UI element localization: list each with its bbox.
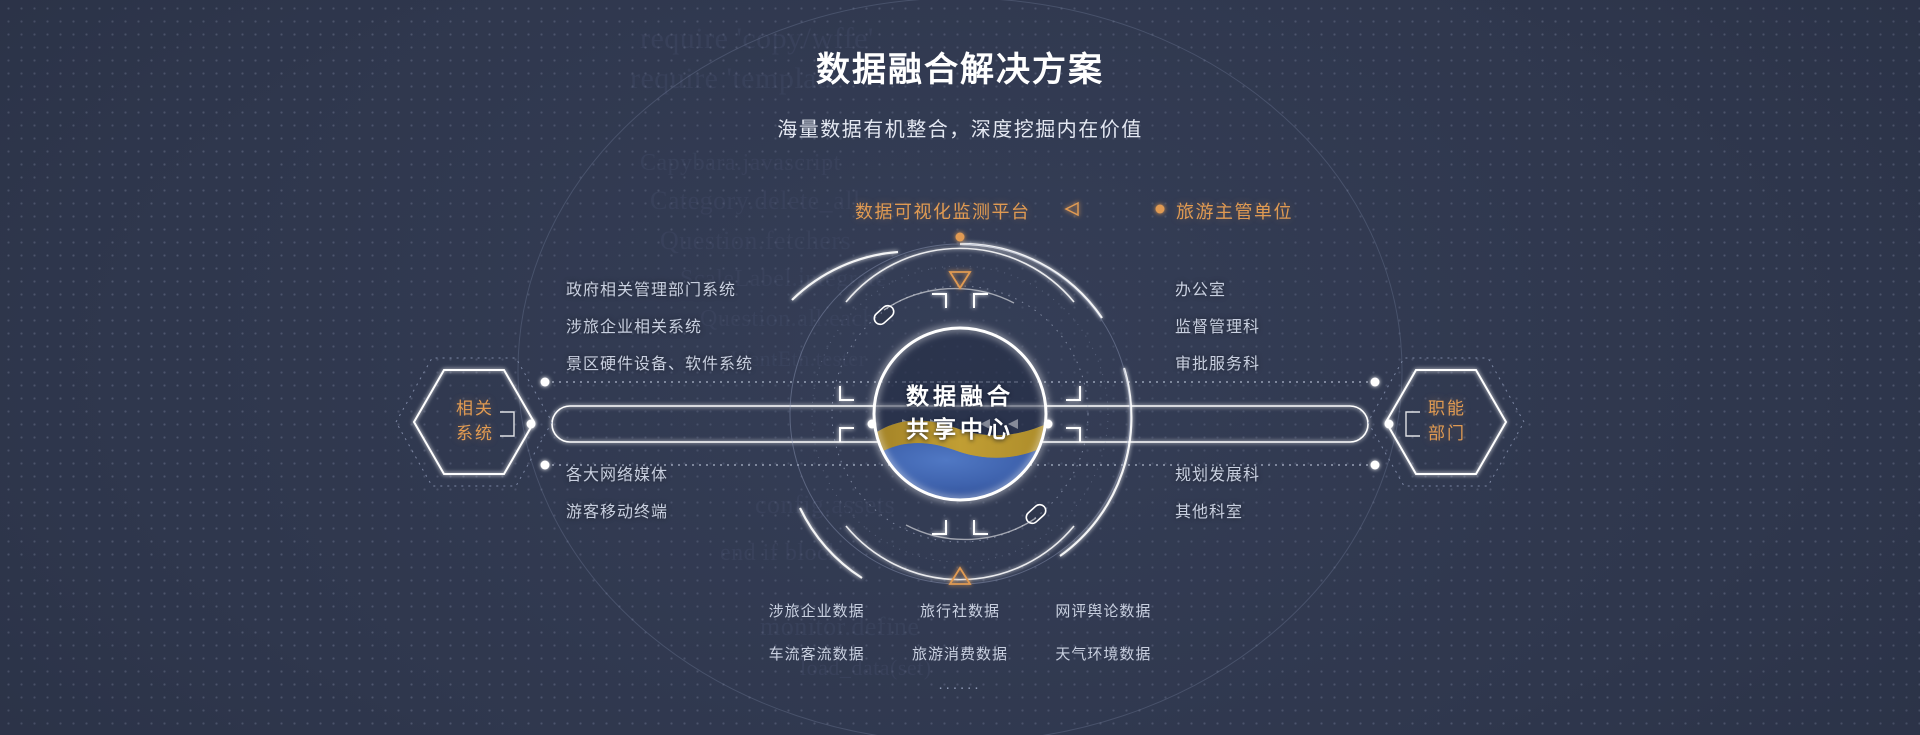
ring-node-icon <box>872 303 896 327</box>
node-dot-icon <box>541 461 550 470</box>
triangle-left-arrow-icon <box>1066 203 1078 215</box>
right-hex-connector <box>1406 412 1420 436</box>
center-core <box>874 328 1046 500</box>
triangle-up-arrow-icon <box>950 568 970 584</box>
node-dot-icon <box>1156 205 1165 214</box>
node-dot-icon <box>956 233 965 242</box>
node-dot-icon <box>541 378 550 387</box>
ring-node-icon <box>1024 502 1048 526</box>
page-title: 数据融合解决方案 <box>0 42 1920 91</box>
triangle-down-arrow-icon <box>950 272 970 288</box>
left-hex-connector <box>500 412 514 436</box>
top-arrow-indicator <box>950 233 970 289</box>
bottom-arrow-indicator <box>950 568 970 612</box>
node-dot-icon <box>1371 378 1380 387</box>
page-header: 数据融合解决方案 海量数据有机整合，深度挖掘内在价值 <box>0 0 1920 142</box>
node-dot-icon <box>1371 461 1380 470</box>
top-label-link <box>1066 203 1165 215</box>
page-subtitle: 海量数据有机整合，深度挖掘内在价值 <box>0 113 1920 142</box>
